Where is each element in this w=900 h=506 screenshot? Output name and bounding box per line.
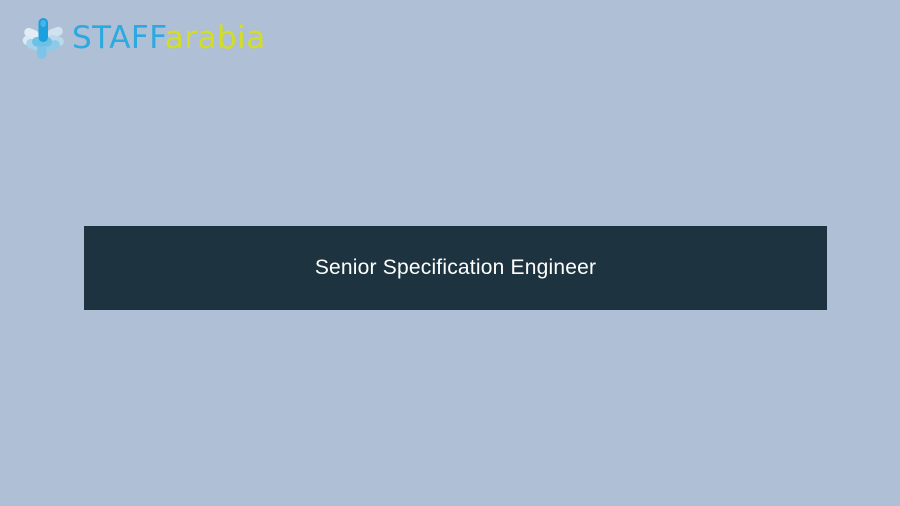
job-title-text: Senior Specification Engineer [315, 255, 596, 280]
brand-logo[interactable]: STAFFarabia [20, 14, 266, 62]
brand-wordmark: STAFFarabia [72, 23, 266, 54]
staffarabia-flower-logo-icon [20, 15, 66, 61]
job-title-banner: Senior Specification Engineer [84, 226, 827, 310]
job-posting-page: STAFFarabia Senior Specification Enginee… [0, 0, 900, 506]
brand-wordmark-arabia: arabia [165, 20, 266, 56]
brand-wordmark-staff: STAFF [72, 20, 165, 56]
